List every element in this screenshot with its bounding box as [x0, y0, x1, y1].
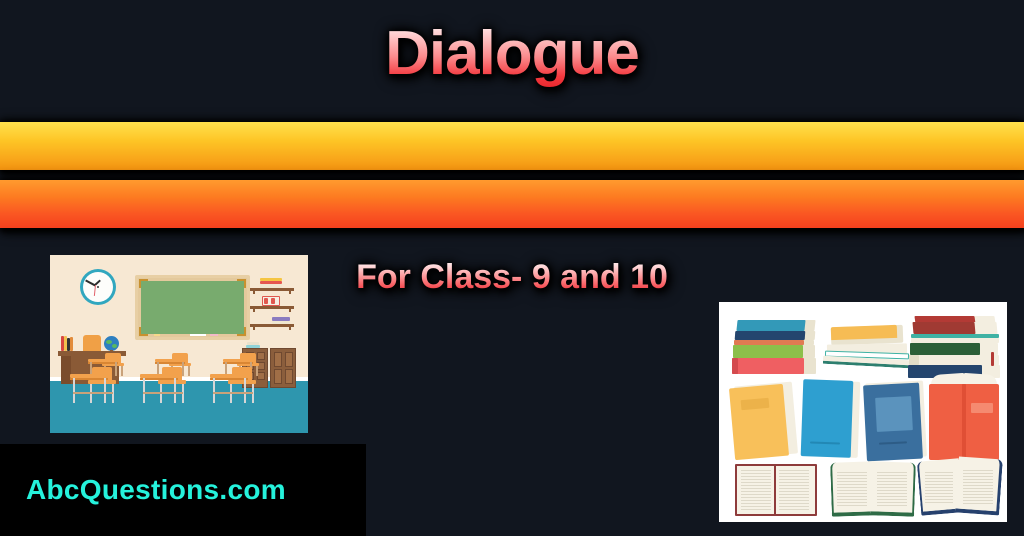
wall-shelf-middle: [250, 306, 294, 309]
cabinet-door: [285, 369, 293, 384]
chalk-piece-yellow: [154, 334, 160, 336]
chalkboard-corner-tr: [237, 279, 246, 288]
watermark-band: AbcQuestions.com: [0, 444, 366, 536]
shelf-bracket-5: [253, 324, 255, 330]
filing-cabinet-right: [270, 348, 296, 388]
cabinet-door: [274, 352, 282, 367]
prompt-line-2: about a picnic they have recently enjoye…: [0, 180, 1024, 228]
chalkboard: [135, 275, 250, 340]
cabinet-drawer: [257, 352, 265, 360]
chalkboard-surface: [141, 281, 244, 334]
shelf-decor-item-2: [271, 298, 275, 304]
shelf-bracket-6: [289, 324, 291, 330]
watermark-text: AbcQuestions.com: [0, 474, 286, 506]
chalkboard-corner-br: [237, 327, 246, 336]
desk-book-orange: [70, 337, 73, 351]
teacher-chair: [83, 335, 101, 351]
shelf-book-cream-2: [272, 321, 290, 324]
wall-shelf-bottom: [250, 324, 294, 327]
chalk-piece-white: [190, 334, 206, 336]
prompt-line-1: Write a dialogue between two friends: [0, 122, 1024, 170]
cabinet-door: [274, 369, 282, 384]
shelf-bracket-2: [289, 288, 291, 294]
cabinet-door: [285, 352, 293, 367]
classroom-floor: [50, 381, 308, 433]
books-illustration: [719, 302, 1007, 522]
shelf-decor-item-1: [264, 298, 268, 304]
page-title: Dialogue: [0, 18, 1024, 89]
shelf-bracket-4: [289, 306, 291, 312]
globe-icon: [104, 336, 119, 351]
shelf-bracket-3: [253, 306, 255, 312]
cabinet-top-box-2: [247, 342, 259, 345]
poster-canvas: Dialogue Write a dialogue between two fr…: [0, 0, 1024, 536]
clock-pivot: [97, 286, 99, 288]
wall-shelf-top: [250, 288, 294, 291]
chalkboard-corner-tl: [139, 279, 148, 288]
wall-clock-icon: [80, 269, 116, 305]
shelf-book-cream: [260, 284, 282, 288]
chalkboard-corner-bl: [139, 327, 148, 336]
chalk-piece-pink: [210, 334, 218, 336]
shelf-bracket-1: [253, 288, 255, 294]
globe-landmass-2: [112, 344, 117, 348]
globe-landmass-1: [106, 340, 112, 344]
classroom-illustration: [50, 255, 308, 433]
cabinet-drawer: [257, 372, 265, 380]
